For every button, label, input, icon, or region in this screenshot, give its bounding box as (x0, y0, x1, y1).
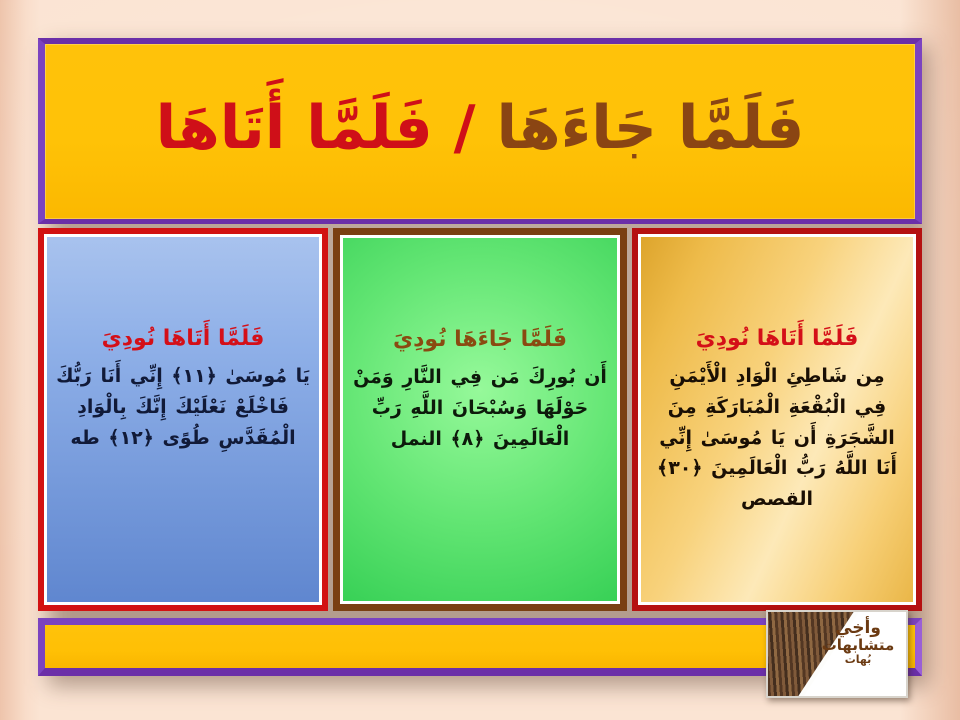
logo-line-3: بُهات (816, 654, 900, 666)
page-title: فَلَمَّا جَاءَهَا / فَلَمَّا أَتَاهَا (156, 88, 805, 175)
slide-canvas: فَلَمَّا جَاءَهَا / فَلَمَّا أَتَاهَا فَ… (0, 0, 960, 720)
verse-panel-row: فَلَمَّا أَتَاهَا نُودِيَ يَا مُوسَىٰ ﴿١… (38, 228, 922, 611)
panel-body-taha: يَا مُوسَىٰ ﴿١١﴾ إِنِّي أَنَا رَبُّكَ فَ… (56, 361, 310, 453)
verse-panel-taha: فَلَمَّا أَتَاهَا نُودِيَ يَا مُوسَىٰ ﴿١… (38, 228, 328, 611)
panel-surah-naml: النمل (391, 428, 442, 450)
title-bar: فَلَمَّا جَاءَهَا / فَلَمَّا أَتَاهَا (38, 38, 922, 224)
mutashabihat-logo: وأخِي متشابهات بُهات (766, 610, 908, 698)
panel-body-naml: أَن بُورِكَ مَن فِي النَّارِ وَمَنْ حَوْ… (352, 362, 608, 454)
panel-body-qasas: مِن شَاطِئِ الْوَادِ الْأَيْمَنِ فِي الْ… (650, 361, 904, 515)
panel-heading-naml: فَلَمَّا جَاءَهَا نُودِيَ (393, 323, 567, 356)
logo-line-2: متشابهات (816, 638, 900, 654)
title-right-part: فَلَمَّا أَتَاهَا (156, 93, 433, 163)
title-left-part: فَلَمَّا جَاءَهَا (496, 93, 804, 163)
title-separator: / (454, 93, 476, 163)
logo-calligraphy: وأخِي متشابهات بُهات (816, 616, 900, 692)
slide-board: فَلَمَّا جَاءَهَا / فَلَمَّا أَتَاهَا فَ… (38, 38, 922, 676)
panel-heading-taha: فَلَمَّا أَتَاهَا نُودِيَ (102, 322, 265, 355)
panel-surah-taha: طه (70, 427, 99, 449)
panel-heading-qasas: فَلَمَّا أَتَاهَا نُودِيَ (696, 322, 859, 355)
verse-panel-qasas: فَلَمَّا أَتَاهَا نُودِيَ مِن شَاطِئِ ال… (632, 228, 922, 611)
panel-verse-text-qasas: مِن شَاطِئِ الْوَادِ الْأَيْمَنِ فِي الْ… (657, 365, 897, 510)
verse-panel-naml: فَلَمَّا جَاءَهَا نُودِيَ أَن بُورِكَ مَ… (333, 228, 627, 611)
